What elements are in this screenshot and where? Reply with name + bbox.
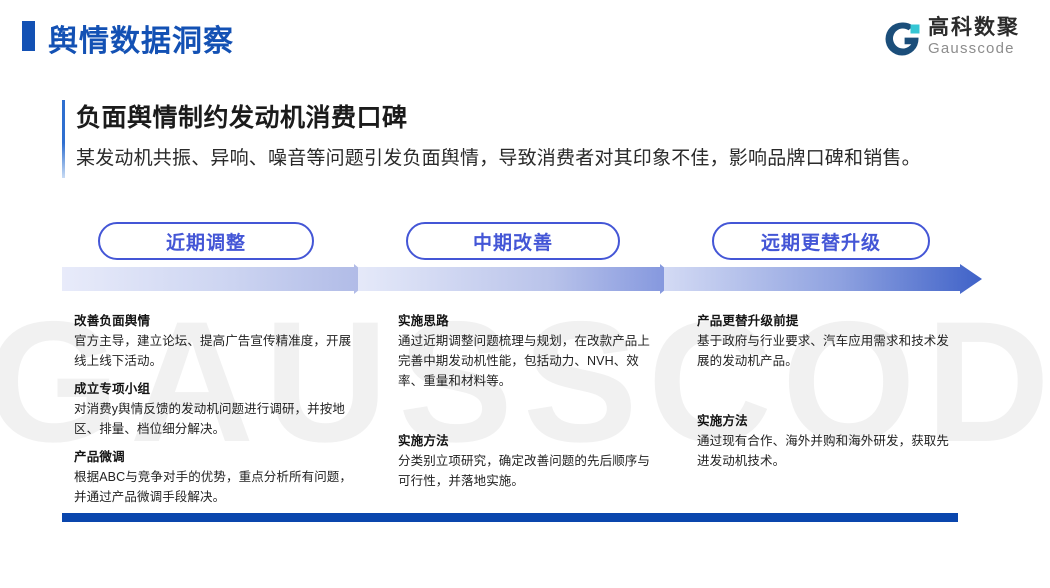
column-long-term: 产品更替升级前提 基于政府与行业要求、汽车应用需求和技术发展的发动机产品。 实施… <box>697 312 959 471</box>
brand-logo-text: 高科数聚 Gausscode <box>928 16 1020 57</box>
block-body: 根据ABC与竞争对手的优势，重点分析所有问题，并通过产品微调手段解决。 <box>74 467 359 507</box>
arrow-segment-1-icon <box>62 264 372 294</box>
column-near-term: 改善负面舆情 官方主导，建立论坛、提高广告宣传精准度，开展线上线下活动。 成立专… <box>74 312 359 507</box>
brand-name-cn: 高科数聚 <box>928 16 1020 40</box>
gausscode-logo-icon <box>882 19 922 59</box>
block-title: 成立专项小组 <box>74 380 359 399</box>
arrow-segment-3-icon <box>664 264 982 294</box>
lead-title: 负面舆情制约发动机消费口碑 <box>76 98 408 134</box>
block-body: 通过近期调整问题梳理与规划，在改款产品上完善中期发动机性能，包括动力、NVH、效… <box>398 331 660 391</box>
arrow-segment-2-icon <box>358 264 678 294</box>
block-body: 通过现有合作、海外并购和海外研发，获取先进发动机技术。 <box>697 431 959 471</box>
content-block: 产品微调 根据ABC与竞争对手的优势，重点分析所有问题，并通过产品微调手段解决。 <box>74 448 359 507</box>
footer-accent-bar <box>62 513 958 522</box>
block-title: 产品更替升级前提 <box>697 312 959 331</box>
block-title: 实施方法 <box>398 432 660 451</box>
block-spacer <box>398 400 660 432</box>
content-block: 改善负面舆情 官方主导，建立论坛、提高广告宣传精准度，开展线上线下活动。 <box>74 312 359 371</box>
lead-subtitle: 某发动机共振、异响、噪音等问题引发负面舆情，导致消费者对其印象不佳，影响品牌口碑… <box>76 143 921 170</box>
brand-name-en: Gausscode <box>928 40 1020 57</box>
block-body: 官方主导，建立论坛、提高广告宣传精准度，开展线上线下活动。 <box>74 331 359 371</box>
content-block: 成立专项小组 对消费y舆情反馈的发动机问题进行调研，并按地区、排量、档位细分解决… <box>74 380 359 439</box>
stage-pill-near-term[interactable]: 近期调整 <box>98 222 314 260</box>
content-block: 实施方法 分类别立项研究，确定改善问题的先后顺序与可行性，并落地实施。 <box>398 432 660 491</box>
lead-accent-rule-icon <box>62 100 65 178</box>
page-title: 舆情数据洞察 <box>48 16 234 60</box>
stage-pill-long-term[interactable]: 远期更替升级 <box>712 222 930 260</box>
content-block: 实施思路 通过近期调整问题梳理与规划，在改款产品上完善中期发动机性能，包括动力、… <box>398 312 660 391</box>
timeline-arrow <box>62 264 982 294</box>
block-body: 基于政府与行业要求、汽车应用需求和技术发展的发动机产品。 <box>697 331 959 371</box>
content-block: 实施方法 通过现有合作、海外并购和海外研发，获取先进发动机技术。 <box>697 412 959 471</box>
content-block: 产品更替升级前提 基于政府与行业要求、汽车应用需求和技术发展的发动机产品。 <box>697 312 959 371</box>
block-spacer <box>697 380 959 412</box>
block-title: 产品微调 <box>74 448 359 467</box>
brand-logo: 高科数聚 Gausscode <box>882 14 1032 66</box>
stage-pill-mid-term[interactable]: 中期改善 <box>406 222 620 260</box>
slide-canvas: GAUSSCODE 舆情数据洞察 高科数聚 Gausscode 负面舆情制约发动… <box>0 0 1050 588</box>
column-mid-term: 实施思路 通过近期调整问题梳理与规划，在改款产品上完善中期发动机性能，包括动力、… <box>398 312 660 491</box>
block-body: 分类别立项研究，确定改善问题的先后顺序与可行性，并落地实施。 <box>398 451 660 491</box>
block-title: 实施方法 <box>697 412 959 431</box>
block-title: 改善负面舆情 <box>74 312 359 331</box>
block-body: 对消费y舆情反馈的发动机问题进行调研，并按地区、排量、档位细分解决。 <box>74 399 359 439</box>
header-accent-bar-icon <box>22 21 35 51</box>
block-title: 实施思路 <box>398 312 660 331</box>
